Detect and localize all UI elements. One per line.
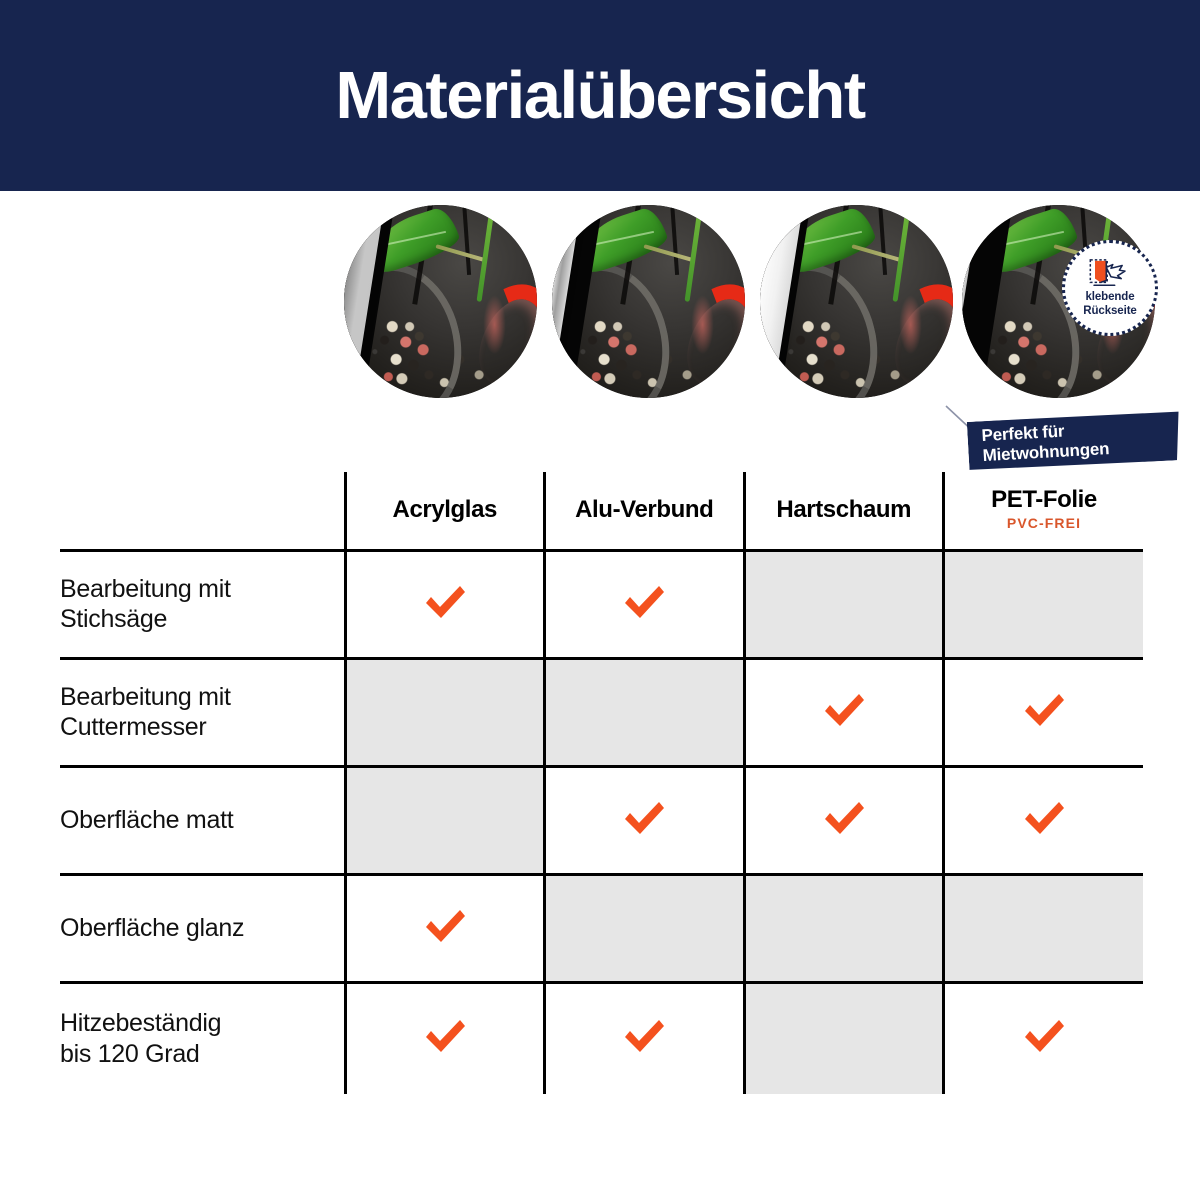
- cell-check-2-3: [944, 766, 1144, 874]
- table-row: Hitzebeständigbis 120 Grad: [60, 982, 1143, 1094]
- row-label-line: Cuttermesser: [60, 712, 344, 743]
- product-sample-alu-verbund: [552, 205, 745, 398]
- cell-check-2-1: [545, 766, 745, 874]
- cell-check-0-1: [545, 550, 745, 658]
- check-icon: [422, 1016, 468, 1056]
- cell-empty-3-2: [744, 874, 944, 982]
- check-icon: [821, 798, 867, 838]
- check-icon: [821, 690, 867, 730]
- klebende-rueckseite-badge: klebende Rückseite: [1062, 240, 1158, 336]
- cell-empty-3-3: [944, 874, 1144, 982]
- product-sample-hartschaum: [760, 205, 953, 398]
- table-header-row: Acrylglas Alu-Verbund Hartschaum PET-Fol…: [60, 472, 1143, 550]
- table-row: Oberfläche matt: [60, 766, 1143, 874]
- badge-line-1: klebende: [1085, 291, 1134, 304]
- cell-check-4-0: [345, 982, 545, 1094]
- column-header-badge-pvc-frei: PVC-FREI: [945, 515, 1143, 531]
- row-label-4: Hitzebeständigbis 120 Grad: [60, 982, 345, 1094]
- peel-sticker-icon: [1088, 258, 1132, 288]
- column-header-acrylglas: Acrylglas: [345, 472, 545, 550]
- cell-check-4-1: [545, 982, 745, 1094]
- cell-check-3-0: [345, 874, 545, 982]
- cell-empty-0-3: [944, 550, 1144, 658]
- cell-empty-1-1: [545, 658, 745, 766]
- page-header: Materialübersicht: [0, 0, 1200, 191]
- column-header-hartschaum: Hartschaum: [744, 472, 944, 550]
- row-label-line: bis 120 Grad: [60, 1039, 344, 1070]
- check-icon: [621, 582, 667, 622]
- check-icon: [621, 1016, 667, 1056]
- row-label-1: Bearbeitung mitCuttermesser: [60, 658, 345, 766]
- header-corner-cell: [60, 472, 345, 550]
- cell-check-1-3: [944, 658, 1144, 766]
- table-row: Bearbeitung mitStichsäge: [60, 550, 1143, 658]
- badge-line-2: Rückseite: [1083, 305, 1136, 318]
- cell-empty-3-1: [545, 874, 745, 982]
- column-header-label: Alu-Verbund: [546, 497, 743, 522]
- check-icon: [1021, 798, 1067, 838]
- row-label-line: Hitzebeständig: [60, 1008, 344, 1039]
- table-body: Bearbeitung mitStichsägeBearbeitung mitC…: [60, 550, 1143, 1094]
- cell-empty-1-0: [345, 658, 545, 766]
- row-label-line: Stichsäge: [60, 604, 344, 635]
- check-icon: [621, 798, 667, 838]
- material-overview-page: Materialübersicht: [0, 0, 1200, 1200]
- cell-check-0-0: [345, 550, 545, 658]
- table-header: Acrylglas Alu-Verbund Hartschaum PET-Fol…: [60, 472, 1143, 550]
- column-header-label: PET-Folie: [945, 487, 1143, 512]
- material-comparison-table-wrap: Acrylglas Alu-Verbund Hartschaum PET-Fol…: [60, 472, 1143, 1094]
- cell-empty-4-2: [744, 982, 944, 1094]
- row-label-0: Bearbeitung mitStichsäge: [60, 550, 345, 658]
- cell-empty-2-0: [345, 766, 545, 874]
- cell-check-1-2: [744, 658, 944, 766]
- row-label-3: Oberfläche glanz: [60, 874, 345, 982]
- row-label-line: Oberfläche glanz: [60, 913, 344, 944]
- table-row: Oberfläche glanz: [60, 874, 1143, 982]
- column-header-pet-folie: PET-Folie PVC-FREI: [944, 472, 1144, 550]
- check-icon: [422, 906, 468, 946]
- row-label-line: Oberfläche matt: [60, 805, 344, 836]
- row-label-line: Bearbeitung mit: [60, 682, 344, 713]
- check-icon: [1021, 690, 1067, 730]
- column-header-label: Acrylglas: [347, 497, 544, 522]
- row-label-line: Bearbeitung mit: [60, 574, 344, 605]
- check-icon: [422, 582, 468, 622]
- material-comparison-table: Acrylglas Alu-Verbund Hartschaum PET-Fol…: [60, 472, 1143, 1094]
- table-row: Bearbeitung mitCuttermesser: [60, 658, 1143, 766]
- product-sample-acrylglas: [344, 205, 537, 398]
- check-icon: [1021, 1016, 1067, 1056]
- cell-empty-0-2: [744, 550, 944, 658]
- column-header-alu-verbund: Alu-Verbund: [545, 472, 745, 550]
- cell-check-2-2: [744, 766, 944, 874]
- row-label-2: Oberfläche matt: [60, 766, 345, 874]
- page-title: Materialübersicht: [335, 62, 864, 129]
- cell-check-4-3: [944, 982, 1144, 1094]
- column-header-label: Hartschaum: [746, 497, 943, 522]
